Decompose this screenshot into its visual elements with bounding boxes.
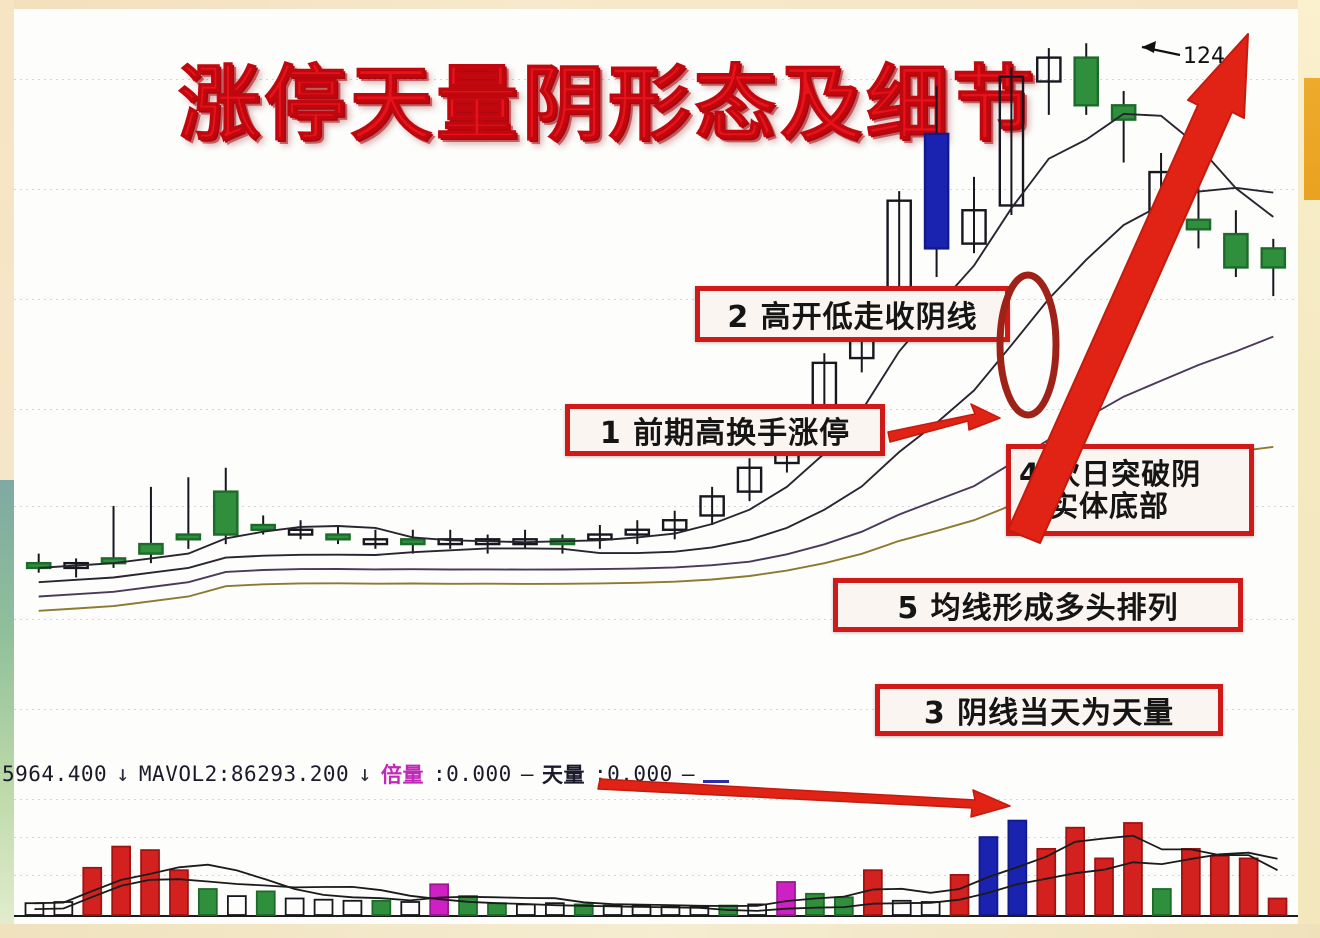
candlestick <box>1075 43 1098 115</box>
candlestick <box>513 530 536 549</box>
callout-box-1[interactable]: 1 前期高换手涨停 <box>565 404 885 456</box>
volume-bar <box>141 850 159 915</box>
callout-box-4-line2: 线实体底部 <box>1019 490 1169 522</box>
candlestick <box>738 458 761 501</box>
volume-bar <box>1153 889 1171 915</box>
candlestick <box>364 530 387 549</box>
indicator-status-bar: 5964.400 ↓ MAVOL2:86293.200 ↓ 倍量 :0.000 … <box>0 757 1286 791</box>
volume-bar <box>806 894 824 915</box>
volume-bar <box>372 901 390 915</box>
candlestick <box>1000 67 1023 215</box>
status-dash-1: – <box>521 762 534 786</box>
volume-bar <box>199 889 217 915</box>
candlestick <box>626 520 649 544</box>
candlestick <box>27 554 50 573</box>
volume-moving-average-line <box>35 853 1278 911</box>
volume-bar <box>170 870 188 915</box>
volume-chart-pane[interactable] <box>14 791 1298 924</box>
candlestick <box>177 477 200 549</box>
candlestick <box>925 86 948 277</box>
candlestick <box>1149 153 1172 229</box>
candlestick <box>65 558 88 577</box>
candlestick <box>476 535 499 554</box>
candlestick <box>139 487 162 563</box>
status-arrow-2: ↓ <box>358 762 372 787</box>
status-value: 5964.400 <box>2 762 107 786</box>
volume-bar <box>1095 858 1113 915</box>
status-arrow-1: ↓ <box>116 762 130 787</box>
status-huge-volume-value: :0.000 <box>594 762 673 786</box>
volume-bar <box>286 899 304 916</box>
volume-bar <box>864 870 882 915</box>
candlestick <box>962 177 985 253</box>
volume-bar <box>980 837 998 915</box>
price-chart-pane[interactable] <box>14 9 1298 753</box>
volume-bar <box>951 875 969 915</box>
candlestick <box>1224 210 1247 277</box>
volume-bar <box>1269 899 1287 916</box>
page-border-right-accent <box>1304 78 1320 200</box>
volume-bar <box>517 904 535 915</box>
status-mavol2: MAVOL2:86293.200 <box>139 762 349 786</box>
page-border-top <box>0 0 1320 9</box>
volume-bar <box>1211 856 1229 915</box>
candlestick <box>1262 239 1285 296</box>
price-tick-label-124: 124 <box>1183 44 1225 69</box>
volume-bar <box>922 902 940 915</box>
callout-box-2[interactable]: 2 高开低走收阴线 <box>695 286 1010 342</box>
candlestick <box>289 520 312 539</box>
candlestick <box>326 525 349 544</box>
candlestick <box>588 525 611 549</box>
callout-box-4[interactable]: 4 次日突破阴 线实体底部 <box>1006 444 1254 536</box>
status-dash-2: – <box>682 762 695 786</box>
volume-bar <box>257 891 275 915</box>
volume-bar <box>315 900 333 915</box>
stock-chart-image: ✛✳✳╎✦╎✳✦✳✳ 涨停天量阴形态及细节 124 2 高开低走收阴线 1 前期… <box>0 0 1320 938</box>
candlestick <box>102 506 125 568</box>
callout-box-4-line1: 4 次日突破阴 <box>1019 458 1201 490</box>
status-cursor-underline <box>703 766 729 783</box>
volume-bar <box>344 901 362 915</box>
callout-box-5[interactable]: 5 均线形成多头排列 <box>833 578 1243 632</box>
candlestick <box>214 468 237 544</box>
volume-bar <box>1240 858 1258 915</box>
volume-bar <box>459 896 477 915</box>
volume-series <box>14 791 1298 924</box>
status-multiple-volume-value: :0.000 <box>433 762 512 786</box>
candlestick-series <box>14 9 1298 753</box>
page-border-left-lower <box>0 480 14 938</box>
page-border-bottom <box>0 924 1320 938</box>
candlestick <box>401 530 424 554</box>
page-border-left-upper <box>0 0 14 480</box>
candlestick <box>551 535 574 554</box>
status-huge-volume-label: 天量 <box>542 759 585 789</box>
candlestick <box>701 487 724 525</box>
volume-bar <box>228 896 246 915</box>
volume-bar <box>488 903 506 915</box>
candlestick <box>1112 91 1135 163</box>
callout-box-3[interactable]: 3 阴线当天为天量 <box>875 684 1223 736</box>
status-multiple-volume-label: 倍量 <box>381 759 424 789</box>
volume-bar <box>401 902 419 915</box>
candlestick <box>1037 48 1060 115</box>
